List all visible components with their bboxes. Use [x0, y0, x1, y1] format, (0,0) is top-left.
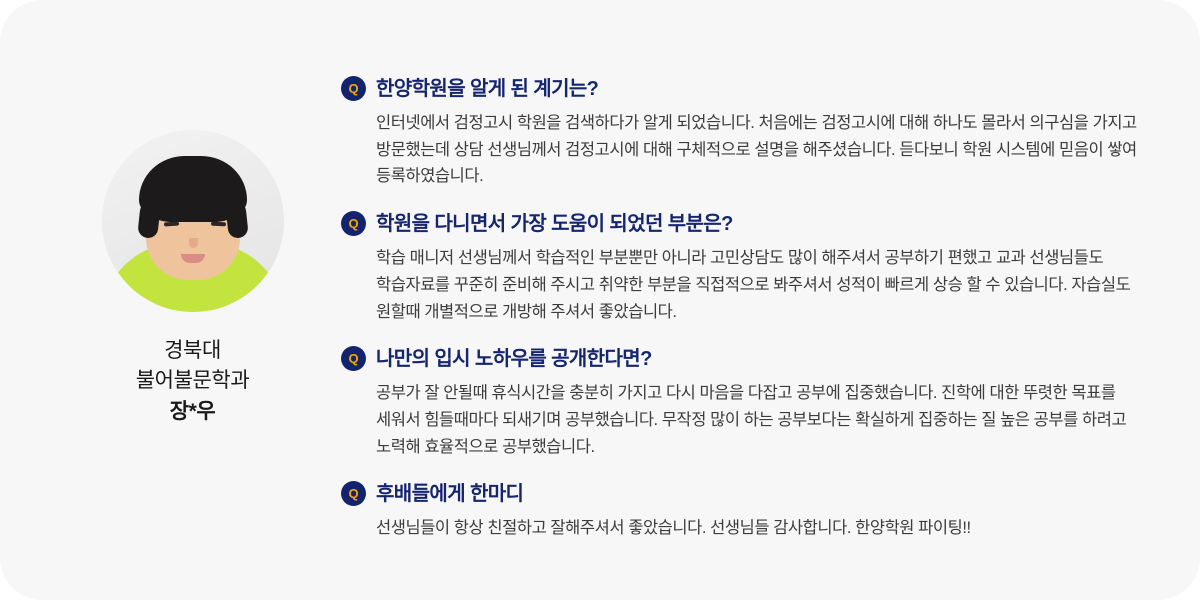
interview-card: 경북대 불어불문학과 장*우 Q 한양학원을 알게 된 계기는? 인터넷에서 검… — [0, 0, 1200, 600]
interview-item: Q 한양학원을 알게 된 계기는? 인터넷에서 검정고시 학원을 검색하다가 알… — [341, 76, 1153, 190]
profile-caption: 경북대 불어불문학과 장*우 — [136, 336, 250, 426]
question-header: Q 나만의 입시 노하우를 공개한다면? — [341, 346, 1153, 371]
question-title: 나만의 입시 노하우를 공개한다면? — [376, 347, 652, 371]
answer-text: 공부가 잘 안될때 휴식시간을 충분히 가지고 다시 마음을 다잡고 공부에 집… — [376, 380, 1153, 460]
profile-column: 경북대 불어불문학과 장*우 — [60, 130, 325, 426]
portrait-nose — [188, 238, 197, 248]
question-badge-icon: Q — [341, 346, 366, 371]
answer-text: 학습 매니저 선생님께서 학습적인 부분뿐만 아니라 고민상담도 많이 해주셔서… — [376, 245, 1153, 325]
interview-item: Q 나만의 입시 노하우를 공개한다면? 공부가 잘 안될때 휴식시간을 충분히… — [341, 346, 1153, 460]
question-header: Q 한양학원을 알게 된 계기는? — [341, 76, 1153, 101]
interview-item: Q 학원을 다니면서 가장 도움이 되었던 부분은? 학습 매니저 선생님께서 … — [341, 211, 1153, 325]
question-title: 학원을 다니면서 가장 도움이 되었던 부분은? — [376, 212, 733, 236]
answer-text: 선생님들이 항상 친절하고 잘해주셔서 좋았습니다. 선생님들 감사합니다. 한… — [376, 515, 1153, 542]
question-badge-icon: Q — [341, 211, 366, 236]
question-title: 한양학원을 알게 된 계기는? — [376, 77, 598, 101]
profile-department: 불어불문학과 — [136, 366, 250, 396]
portrait-fringe — [145, 174, 241, 200]
interview-item: Q 후배들에게 한마디 선생님들이 항상 친절하고 잘해주셔서 좋았습니다. 선… — [341, 481, 1153, 542]
profile-university: 경북대 — [136, 336, 250, 366]
question-header: Q 후배들에게 한마디 — [341, 481, 1153, 506]
question-header: Q 학원을 다니면서 가장 도움이 되었던 부분은? — [341, 211, 1153, 236]
answer-text: 인터넷에서 검정고시 학원을 검색하다가 알게 되었습니다. 처음에는 검정고시… — [376, 110, 1153, 190]
avatar — [102, 130, 284, 312]
profile-name: 장*우 — [136, 397, 250, 427]
question-badge-icon: Q — [341, 481, 366, 506]
interview-list: Q 한양학원을 알게 된 계기는? 인터넷에서 검정고시 학원을 검색하다가 알… — [341, 76, 1153, 542]
portrait-eye-right — [210, 222, 225, 227]
question-badge-icon: Q — [341, 76, 366, 101]
question-title: 후배들에게 한마디 — [376, 482, 523, 506]
